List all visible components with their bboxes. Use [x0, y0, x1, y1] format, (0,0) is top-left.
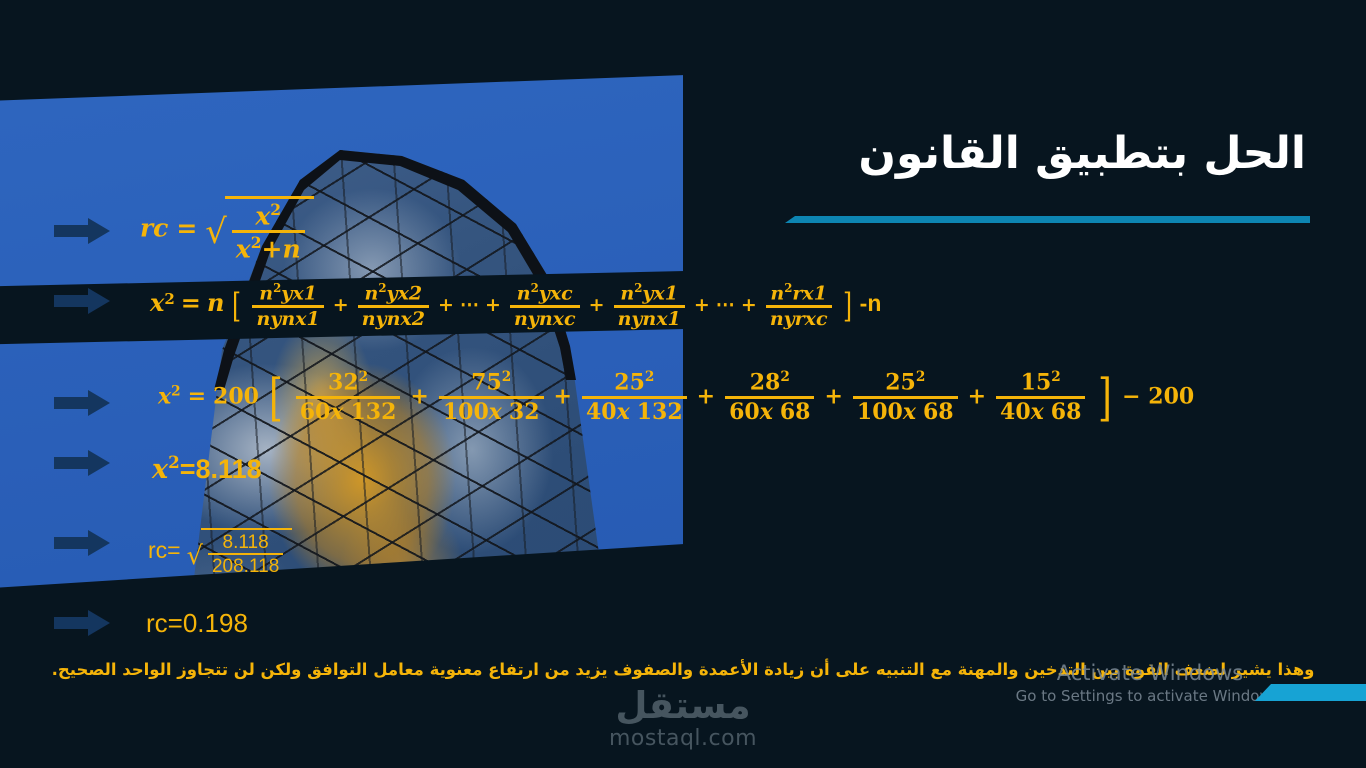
right-arrow-icon: [54, 288, 110, 314]
eq1-fraction: x2 x2+n: [232, 201, 305, 264]
eq1-den-a-exp: 2: [251, 233, 262, 252]
eq3-plus-1: +: [410, 384, 428, 410]
eq3-plus-2: +: [554, 384, 572, 410]
eq3-t5-den-b: 68: [923, 399, 954, 425]
eq3-term-5: 252 100x 68: [853, 370, 958, 425]
eq2-t4-rest: yx1: [642, 282, 678, 304]
eq3-t2-den-b: 32: [509, 399, 540, 425]
eq2-t2-rest: yx2: [387, 282, 423, 304]
eq3-plus-3: +: [697, 384, 715, 410]
eq5-fraction: 8.118 208.118: [208, 532, 283, 578]
right-arrow-icon: [54, 530, 110, 556]
eq3-term-6: 152 40x 68: [996, 370, 1085, 425]
eq3-t4-den-x: x: [760, 399, 773, 425]
eq5-num: 8.118: [223, 532, 269, 553]
eq2-t4-base: n: [620, 282, 634, 304]
eq2-t2-base: n: [365, 282, 379, 304]
eq2-plus-4: +: [589, 294, 605, 316]
eq3-coefficient: 200: [213, 384, 259, 410]
eq2-ellipsis-2: ⋯: [716, 294, 735, 316]
eq2-equals: =: [181, 288, 201, 317]
eq2-t5-base: n: [770, 282, 784, 304]
eq3-t4-den-b: 68: [780, 399, 811, 425]
eq1-den-plus: +: [261, 235, 282, 264]
eq2-ellipsis-1: ⋯: [460, 294, 479, 316]
mostaql-logo-domain: mostaql.com: [0, 726, 1366, 752]
eq2-plus-6: +: [741, 294, 757, 316]
eq2-t4-den: nynx1: [618, 308, 681, 330]
eq2-t1-den: nynx1: [256, 308, 319, 330]
eq3-t5-den-x: x: [903, 399, 916, 425]
presentation-slide: الحل بتطبيق القانون rc = √ x2 x2+n x2: [0, 0, 1366, 768]
eq5-den: 208.118: [212, 556, 279, 577]
eq3-t5-num: 25: [885, 369, 916, 395]
equation-chi-square-result: x2=8.118: [152, 452, 262, 485]
eq3-lhs-exp: 2: [171, 383, 180, 399]
eq3-t1-den-x: x: [330, 399, 343, 425]
eq3-t6-den-a: 40: [1000, 399, 1031, 425]
eq3-t6-num: 15: [1021, 369, 1052, 395]
eq3-term-3: 252 40x 132: [582, 370, 687, 425]
eq3-t2-exp: 2: [502, 369, 511, 385]
eq2-plus-2: +: [438, 294, 454, 316]
eq2-t2-exp: 2: [378, 281, 386, 295]
page-title: الحل بتطبيق القانون: [858, 128, 1306, 179]
eq3-t5-exp: 2: [916, 369, 925, 385]
eq3-t4-den-a: 60: [729, 399, 760, 425]
eq4-lhs-exp: 2: [168, 452, 180, 472]
eq5-radical: √ 8.118 208.118: [187, 528, 293, 578]
eq2-t2-den: nynx2: [362, 308, 425, 330]
eq4-value: =8.118: [180, 454, 262, 484]
eq1-num: x: [255, 201, 270, 230]
eq2-plus-3: +: [485, 294, 501, 316]
eq3-t2-num: 75: [471, 369, 502, 395]
eq3-t3-den-x: x: [617, 399, 630, 425]
eq3-term-1: 322 60x 132: [296, 370, 401, 425]
eq2-term-5: n2rx1 nyrxc: [766, 282, 832, 330]
eq2-t3-den: nynxc: [514, 308, 576, 330]
eq3-term-2: 752 100x 32: [439, 370, 544, 425]
eq3-t3-den-a: 40: [586, 399, 617, 425]
eq2-tail: -n: [860, 290, 882, 316]
mostaql-watermark: مستقل mostaql.com: [0, 686, 1366, 752]
eq2-lhs-exp: 2: [164, 290, 174, 308]
eq1-radical: √ x2 x2+n: [205, 196, 313, 264]
title-underline: [785, 216, 1310, 223]
eq3-t1-den-a: 60: [300, 399, 331, 425]
eq3-t5-den-a: 100: [857, 399, 903, 425]
right-arrow-icon: [54, 218, 110, 244]
eq2-term-1: n2yx1 nynx1: [252, 282, 323, 330]
eq1-lhs: rc: [140, 214, 168, 243]
eq1-den-b: n: [282, 235, 300, 264]
equation-rc-numeric: rc= √ 8.118 208.118: [148, 528, 292, 578]
right-arrow-icon: [54, 390, 110, 416]
eq3-t3-num: 25: [614, 369, 645, 395]
equation-rc-definition: rc = √ x2 x2+n: [140, 196, 314, 264]
eq2-t3-rest: yxc: [539, 282, 573, 304]
eq3-t3-den-b: 132: [637, 399, 683, 425]
eq3-equals: =: [188, 384, 206, 410]
eq3-term-4: 282 60x 68: [725, 370, 814, 425]
mostaql-logo-arabic: مستقل: [0, 686, 1366, 726]
eq2-bracket-close: ]: [843, 292, 852, 320]
eq4-lhs: x: [152, 454, 168, 485]
eq3-t1-exp: 2: [359, 369, 368, 385]
eq2-coefficient: n: [207, 288, 224, 317]
eq3-t6-den-b: 68: [1051, 399, 1082, 425]
equation-chi-square-general: x2 = n [ n2yx1 nynx1 + n2yx2 nynx2 + ⋯ +…: [150, 282, 881, 330]
eq3-t1-num: 32: [328, 369, 359, 395]
eq2-term-3: n2yxc nynxc: [510, 282, 580, 330]
eq3-bracket-open: [: [269, 376, 283, 419]
eq2-t1-base: n: [259, 282, 273, 304]
eq3-plus-4: +: [824, 384, 842, 410]
eq3-bracket-close: ]: [1098, 376, 1112, 419]
eq2-term-2: n2yx2 nynx2: [358, 282, 429, 330]
eq2-plus-1: +: [333, 294, 349, 316]
equation-chi-square-numeric: x2 = 200 [ 322 60x 132 + 752 100x 32 + 2…: [158, 370, 1194, 425]
activate-windows-title: Activate Windows: [940, 660, 1360, 686]
right-arrow-icon: [54, 610, 110, 636]
right-arrow-icon: [54, 450, 110, 476]
eq2-term-4: n2yx1 nynx1: [614, 282, 685, 330]
eq3-t4-exp: 2: [780, 369, 789, 385]
eq3-t2-den-x: x: [489, 399, 502, 425]
eq2-t3-base: n: [517, 282, 531, 304]
eq3-t6-den-x: x: [1031, 399, 1044, 425]
radical-sign-icon: √: [205, 220, 227, 244]
radical-sign-icon: √: [187, 548, 203, 566]
eq1-num-exp: 2: [270, 200, 281, 219]
eq3-lhs: x: [158, 384, 171, 410]
eq2-lhs: x: [150, 288, 164, 317]
eq2-t3-exp: 2: [531, 281, 539, 295]
eq3-t4-num: 28: [750, 369, 781, 395]
eq3-tail: − 200: [1122, 384, 1194, 410]
eq1-equals: =: [176, 214, 197, 243]
eq3-plus-5: +: [968, 384, 986, 410]
eq2-t5-rest: rx1: [792, 282, 827, 304]
equation-rc-result: rc=0.198: [146, 608, 248, 639]
eq3-t2-den-a: 100: [443, 399, 489, 425]
eq3-t3-exp: 2: [645, 369, 654, 385]
corner-accent-shape: [1255, 684, 1366, 701]
eq2-t5-den: nyrxc: [770, 308, 828, 330]
eq2-bracket-open: [: [232, 292, 241, 320]
eq3-t6-exp: 2: [1051, 369, 1060, 385]
eq2-plus-5: +: [694, 294, 710, 316]
eq1-den-a: x: [236, 235, 251, 264]
eq3-t1-den-b: 132: [350, 399, 396, 425]
eq2-t1-rest: yx1: [281, 282, 317, 304]
eq5-lhs: rc=: [148, 537, 181, 563]
